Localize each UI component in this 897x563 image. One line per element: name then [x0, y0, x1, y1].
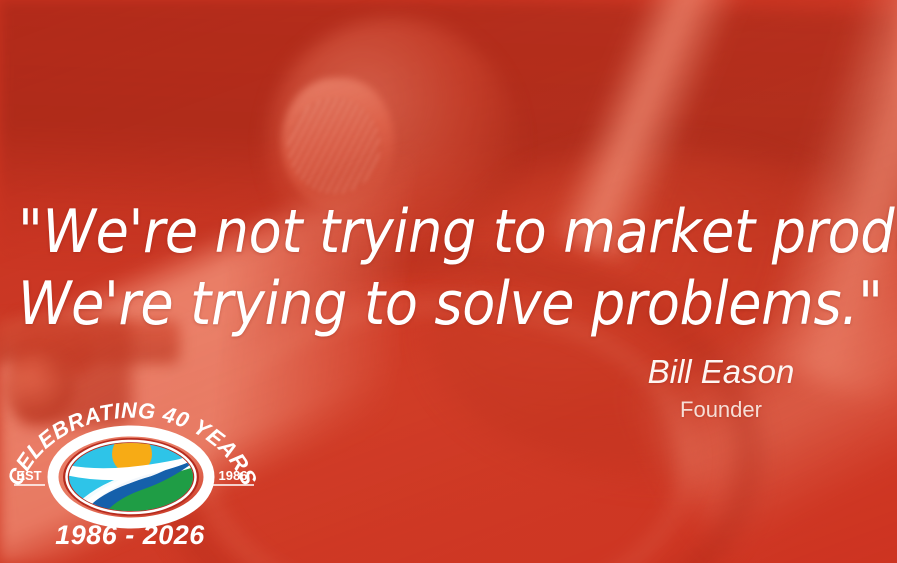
logo-est-label: EST: [16, 468, 41, 483]
anniversary-logo-icon: CELEBRATING 40 YEARS: [2, 392, 260, 560]
author-role: Founder: [571, 395, 871, 425]
logo-year-range: 1986 - 2026: [55, 520, 205, 550]
quote-line-1: "We're not trying to market products...: [18, 196, 879, 268]
background-knob-ridges: [288, 98, 380, 194]
author-name: Bill Eason: [571, 352, 871, 392]
logo-est-group: EST: [14, 468, 45, 485]
quote-line-2: We're trying to solve problems.": [18, 268, 879, 340]
attribution: Bill Eason Founder: [571, 352, 871, 425]
quote-banner: "We're not trying to market products... …: [0, 0, 897, 563]
logo-est-year: 1986: [219, 468, 248, 483]
anniversary-logo-badge: CELEBRATING 40 YEARS: [2, 392, 260, 560]
quote-text: "We're not trying to market products... …: [0, 196, 897, 340]
